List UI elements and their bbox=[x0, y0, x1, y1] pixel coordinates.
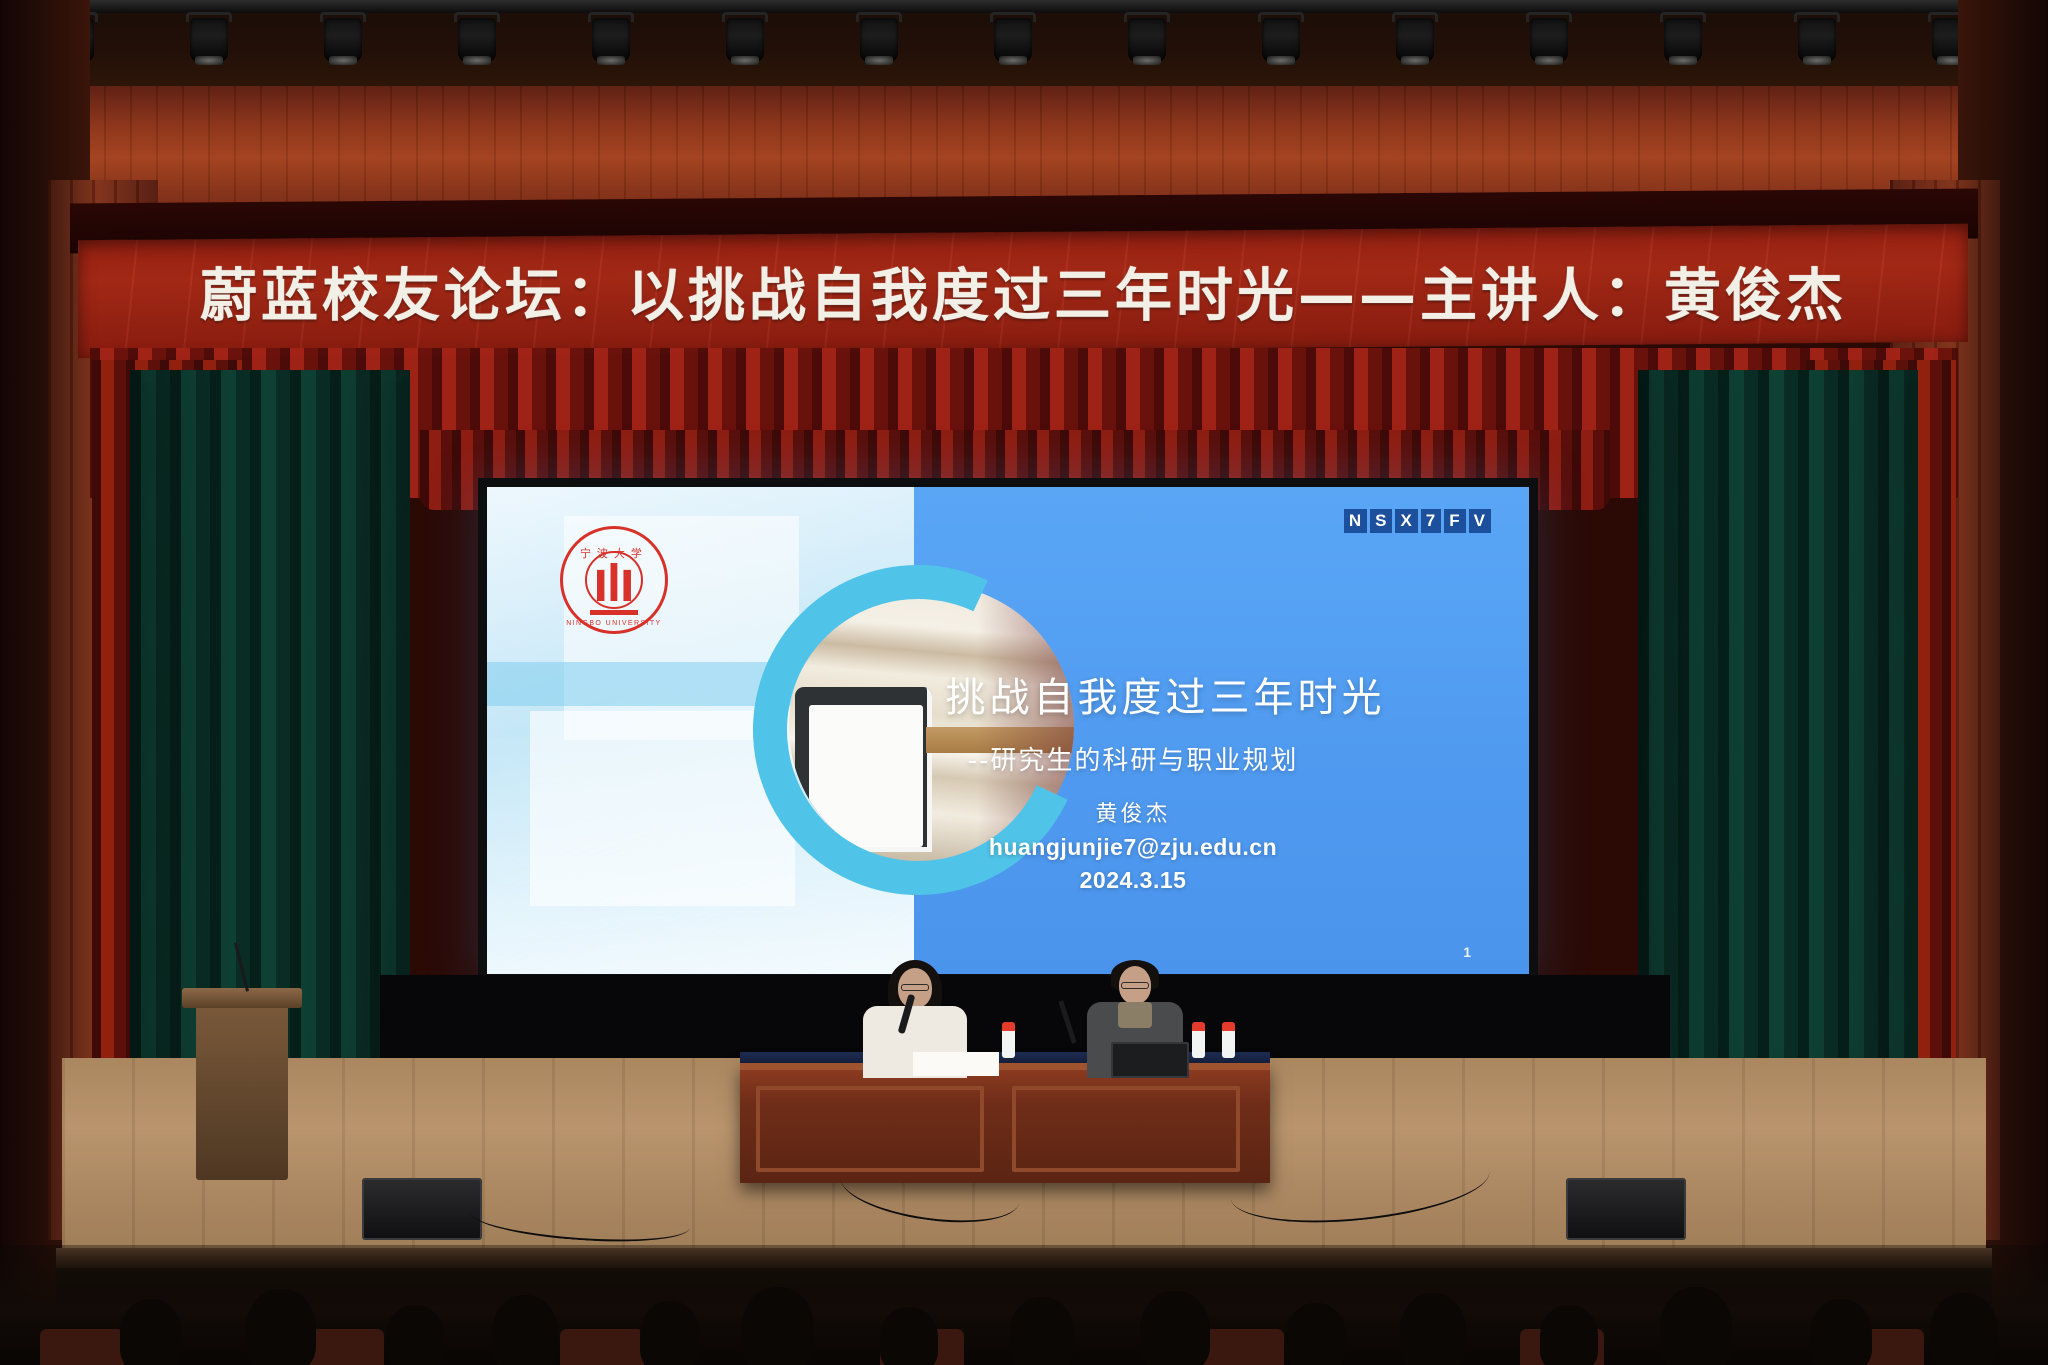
water-bottle bbox=[1192, 1022, 1205, 1058]
slide-watermark: N S X 7 F V bbox=[1344, 509, 1491, 533]
glasses-icon bbox=[901, 984, 929, 991]
presentation-slide: 宁波大学 NINGBO UNIVERSITY N S X 7 F V 挑战自我度… bbox=[487, 487, 1529, 974]
watermark-char: 7 bbox=[1421, 509, 1441, 533]
stage-lamp-icon bbox=[454, 8, 500, 70]
stage-lamp-icon bbox=[1124, 8, 1170, 70]
water-bottle bbox=[1222, 1022, 1235, 1058]
stage-lamp-icon bbox=[722, 8, 768, 70]
event-banner: 蔚蓝校友论坛：以挑战自我度过三年时光——主讲人：黄俊杰 bbox=[78, 224, 1968, 358]
stage-lamp-icon bbox=[186, 8, 232, 70]
stage-lamp-icon bbox=[1526, 8, 1572, 70]
slide-page-number: 1 bbox=[1463, 944, 1471, 960]
university-seal-icon: 宁波大学 NINGBO UNIVERSITY bbox=[560, 526, 668, 634]
person-moderator bbox=[855, 960, 975, 1080]
auditorium-scene: 蔚蓝校友论坛：以挑战自我度过三年时光——主讲人：黄俊杰 宁波大学 bbox=[0, 0, 2048, 1365]
glasses-icon bbox=[1121, 982, 1149, 989]
seal-name-en: NINGBO UNIVERSITY bbox=[566, 620, 661, 627]
presenter-name: 黄俊杰 bbox=[737, 799, 1529, 831]
projection-screen: 宁波大学 NINGBO UNIVERSITY N S X 7 F V 挑战自我度… bbox=[478, 478, 1538, 983]
watermark-char: F bbox=[1444, 509, 1465, 533]
presenter-email: huangjunjie7@zju.edu.cn bbox=[737, 831, 1529, 864]
stage-lamp-icon bbox=[1794, 8, 1840, 70]
stage-lamp-icon bbox=[990, 8, 1036, 70]
stage-lamp-icon bbox=[1660, 8, 1706, 70]
person-speaker bbox=[1075, 960, 1195, 1080]
water-bottle bbox=[1002, 1022, 1015, 1058]
slide-subtitle: --研究生的科研与职业规划 bbox=[487, 740, 1529, 777]
stage-lamp-icon bbox=[856, 8, 902, 70]
watermark-char: S bbox=[1370, 509, 1392, 533]
paper-sheet bbox=[913, 1052, 999, 1076]
upper-wall bbox=[0, 86, 2048, 206]
laptop-icon bbox=[1111, 1042, 1189, 1078]
stage-lamp-icon bbox=[1258, 8, 1304, 70]
slide-date: 2024.3.15 bbox=[737, 864, 1529, 897]
watermark-char: V bbox=[1469, 509, 1491, 533]
speaker-table bbox=[740, 1063, 1270, 1183]
banner-title: 蔚蓝校友论坛：以挑战自我度过三年时光——主讲人：黄俊杰 bbox=[200, 250, 1847, 332]
ceiling bbox=[0, 0, 2048, 92]
watermark-char: N bbox=[1344, 509, 1367, 533]
lectern bbox=[196, 1000, 288, 1180]
stage-lamp-icon bbox=[1392, 8, 1438, 70]
pa-speaker-right bbox=[1566, 1178, 1686, 1240]
audience-silhouettes bbox=[0, 1245, 2048, 1365]
pa-speaker-left bbox=[362, 1178, 482, 1240]
watermark-char: X bbox=[1395, 509, 1417, 533]
slide-title: 挑战自我度过三年时光 bbox=[945, 665, 1529, 723]
stage-lamp-icon bbox=[320, 8, 366, 70]
slide-presenter-block: 黄俊杰 huangjunjie7@zju.edu.cn 2024.3.15 bbox=[737, 799, 1529, 898]
stage-lamp-icon bbox=[588, 8, 634, 70]
